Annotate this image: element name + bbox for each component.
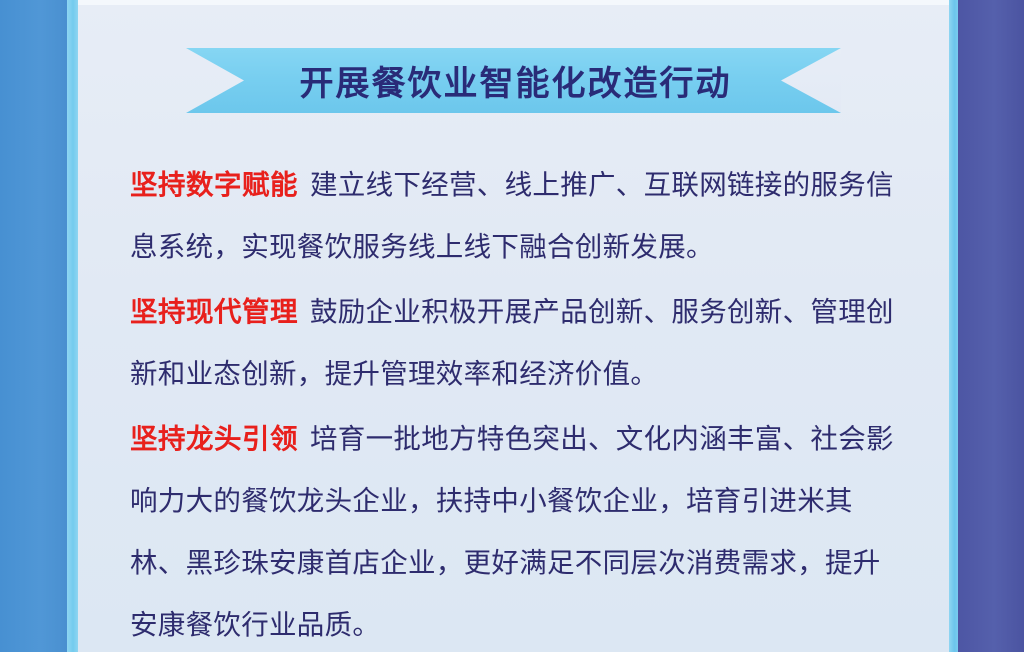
right-decorative-band (958, 0, 1024, 652)
paragraph-2: 坚持现代管理鼓励企业积极开展产品创新、服务创新、管理创新和业态创新，提升管理效率… (130, 281, 905, 405)
paragraph-3-lead: 坚持龙头引领 (130, 423, 298, 454)
section-banner: 开展餐饮业智能化改造行动 (186, 48, 841, 113)
body-text-block: 坚持数字赋能建立线下经营、线上推广、互联网链接的服务信息系统，实现餐饮服务线上线… (130, 154, 905, 652)
content-card: 开展餐饮业智能化改造行动 坚持数字赋能建立线下经营、线上推广、互联网链接的服务信… (78, 0, 949, 652)
banner-title: 开展餐饮业智能化改造行动 (186, 48, 841, 113)
poster-root: 开展餐饮业智能化改造行动 坚持数字赋能建立线下经营、线上推广、互联网链接的服务信… (0, 0, 1024, 652)
right-accent-stripe (949, 0, 958, 652)
paragraph-1: 坚持数字赋能建立线下经营、线上推广、互联网链接的服务信息系统，实现餐饮服务线上线… (130, 154, 905, 278)
paragraph-2-lead: 坚持现代管理 (130, 296, 298, 327)
paragraph-1-lead: 坚持数字赋能 (130, 169, 298, 200)
paragraph-3-text: 培育一批地方特色突出、文化内涵丰富、社会影响力大的餐饮龙头企业，扶持中小餐饮企业… (130, 423, 894, 640)
card-top-highlight (78, 0, 949, 5)
left-accent-stripe (67, 0, 78, 652)
paragraph-3: 坚持龙头引领培育一批地方特色突出、文化内涵丰富、社会影响力大的餐饮龙头企业，扶持… (130, 408, 905, 652)
left-decorative-band (0, 0, 67, 652)
